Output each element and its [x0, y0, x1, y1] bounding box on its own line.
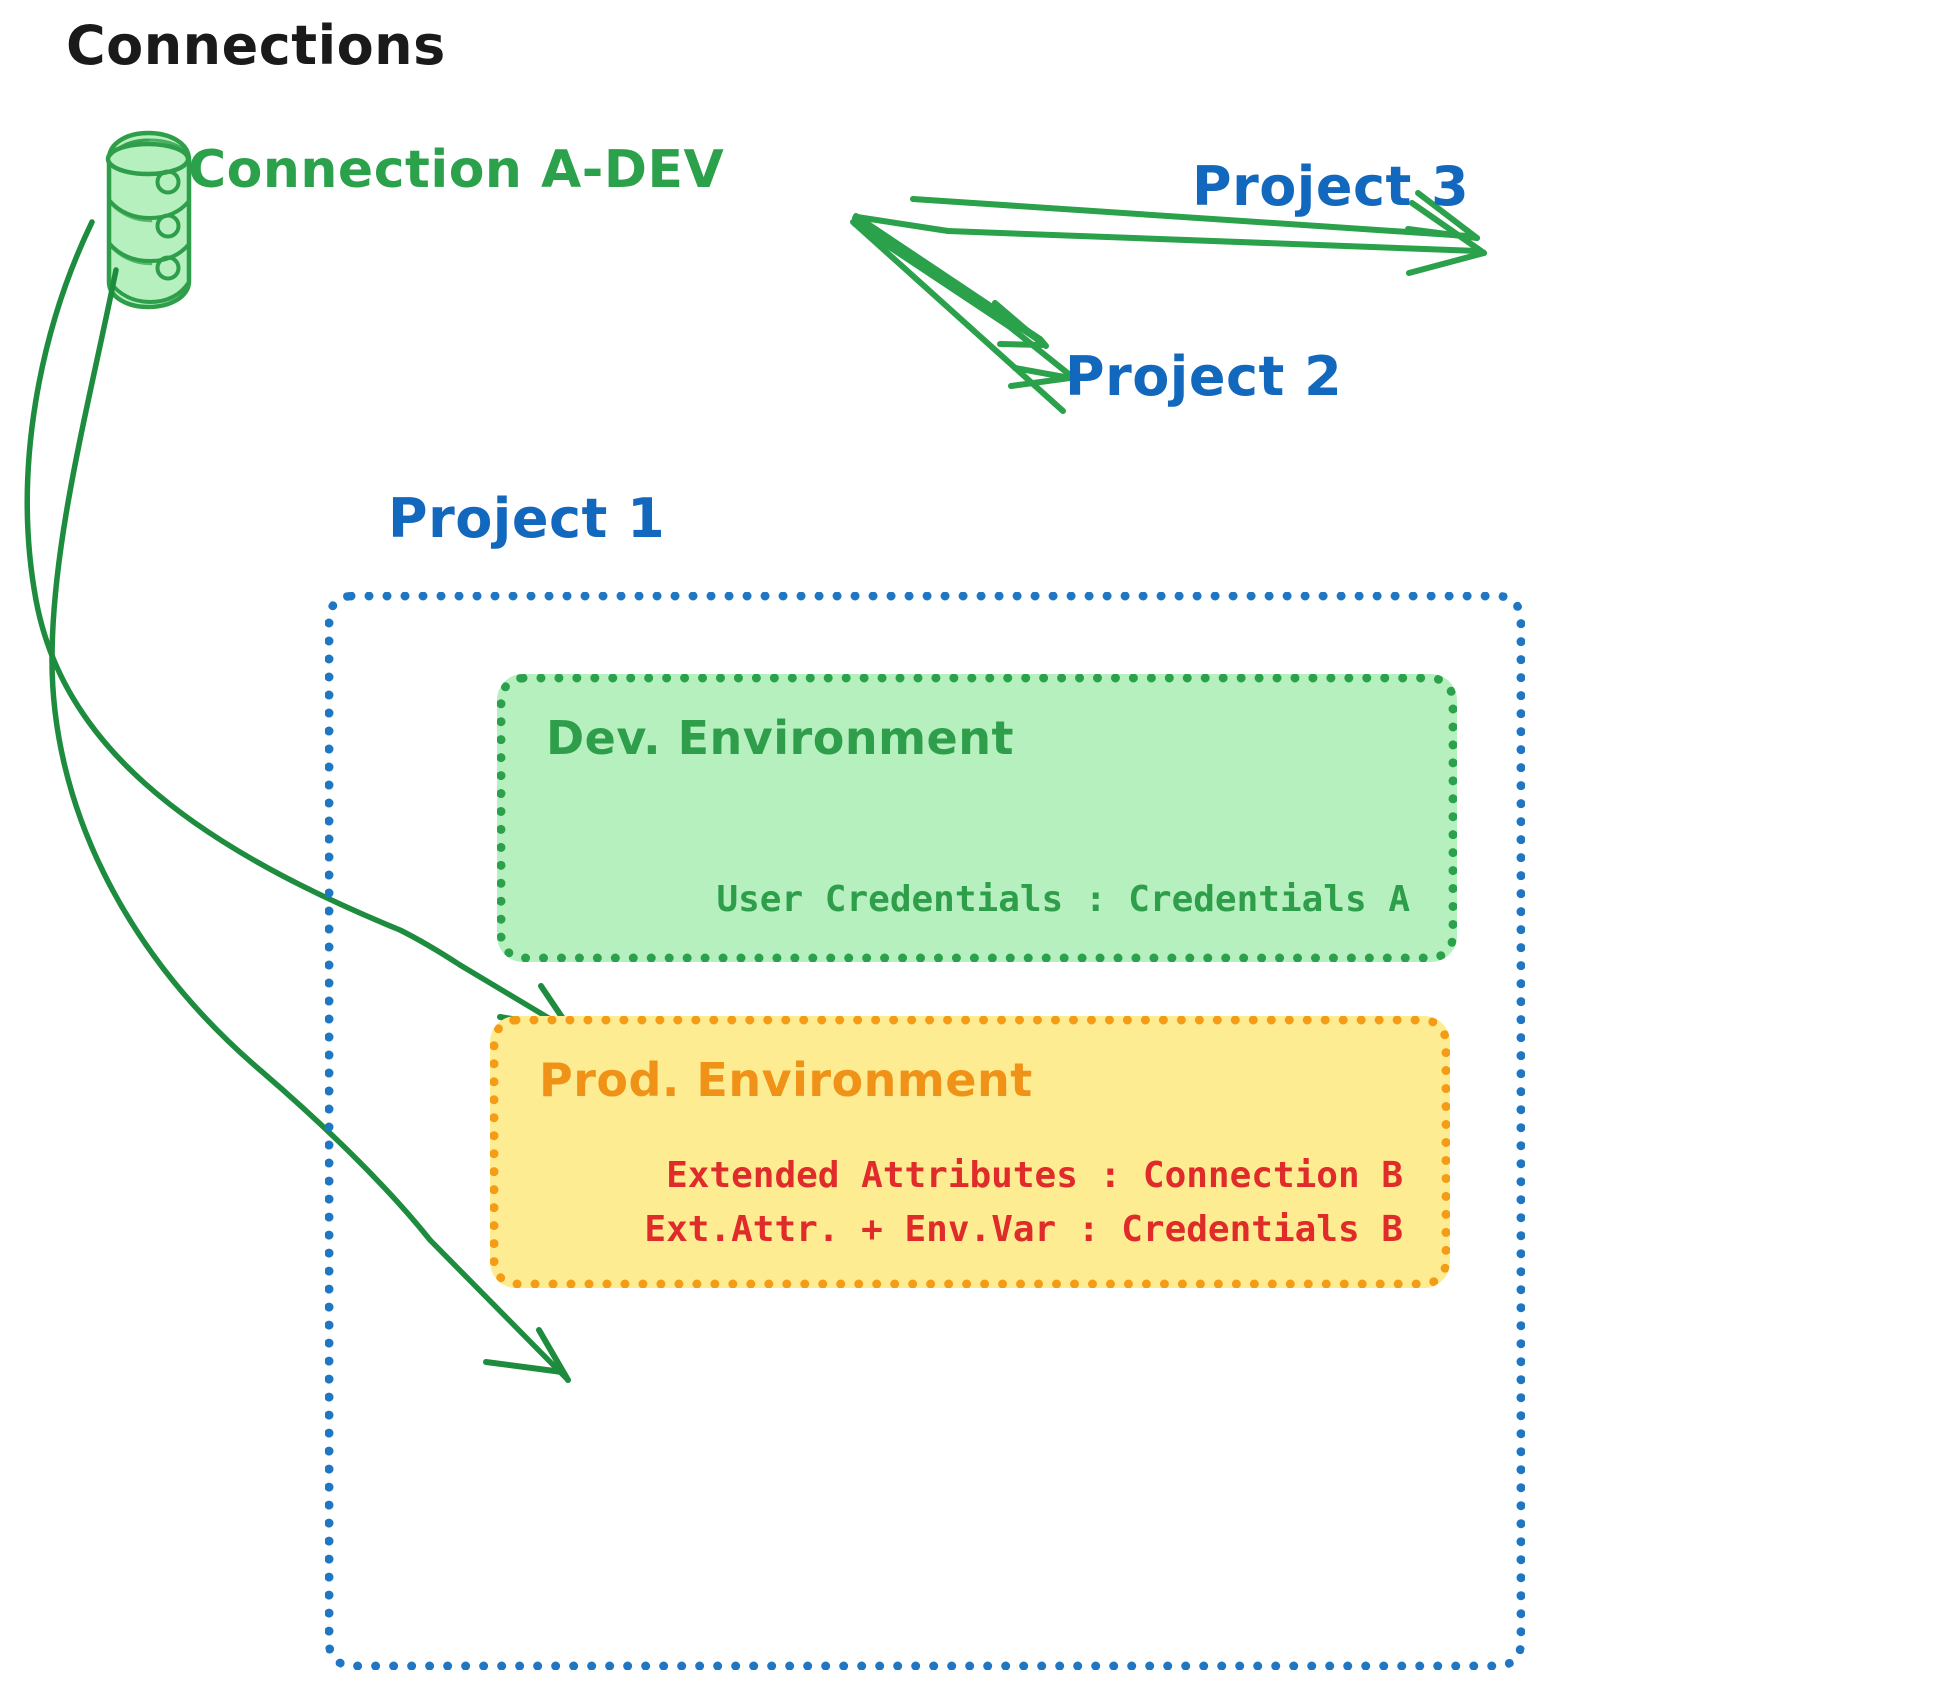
- prod-environment-title: Prod. Environment: [539, 1053, 1033, 1107]
- connection-label: Connection A-DEV: [188, 140, 724, 200]
- prod-environment-box: Prod. Environment Extended Attributes : …: [490, 1016, 1450, 1288]
- arrow-connection-to-project-2-b: [853, 222, 1070, 411]
- prod-environment-attribute-line: Extended Attributes : Connection B: [644, 1149, 1403, 1203]
- prod-environment-attribute-line: Ext.Attr. + Env.Var : Credentials B: [644, 1203, 1403, 1257]
- dev-environment-attribute-line: User Credentials : Credentials A: [716, 873, 1410, 927]
- dev-environment-box: Dev. Environment User Credentials : Cred…: [497, 674, 1457, 962]
- project-2-label: Project 2: [1065, 345, 1342, 408]
- page-title: Connections: [66, 14, 446, 77]
- database-cylinder-icon: [108, 133, 189, 308]
- dev-environment-attributes: User Credentials : Credentials A: [716, 873, 1410, 927]
- dev-environment-title: Dev. Environment: [546, 711, 1014, 765]
- prod-environment-attributes: Extended Attributes : Connection B Ext.A…: [644, 1149, 1403, 1257]
- project-3-label: Project 3: [1192, 155, 1469, 218]
- project-1-label: Project 1: [388, 487, 665, 550]
